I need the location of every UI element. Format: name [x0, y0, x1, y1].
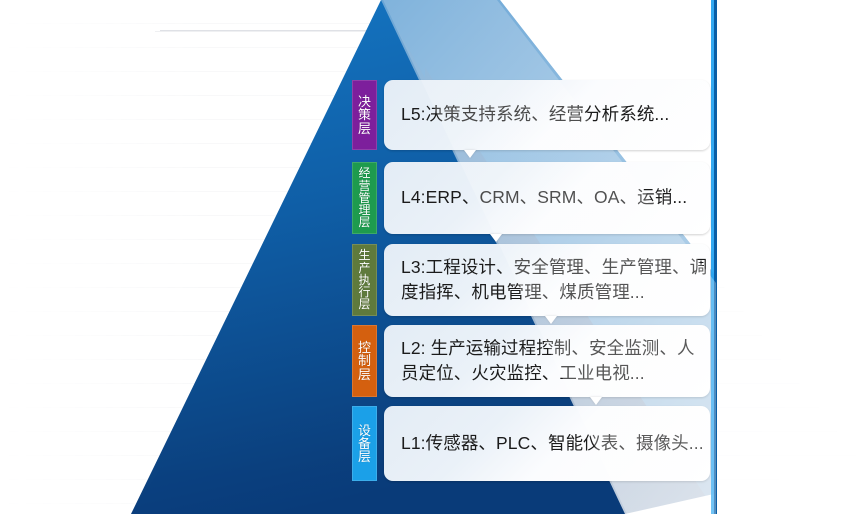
layer-row-L5[interactable]: 决 策 层 L5:决策支持系统、经营分析系统... — [352, 80, 710, 150]
layer-card-L5[interactable]: L5:决策支持系统、经营分析系统... — [384, 80, 710, 150]
layer-text-L4: L4:ERP、CRM、SRM、OA、运销... — [401, 185, 687, 210]
layer-tab-char: 策 — [358, 108, 371, 121]
layer-text-L5: L5:决策支持系统、经营分析系统... — [401, 102, 669, 127]
layer-tab-char: 层 — [358, 216, 370, 228]
layer-rows: 决 策 层 L5:决策支持系统、经营分析系统... 经 营 管 理 层 L4:E… — [0, 0, 856, 514]
layer-tab-char: 层 — [358, 298, 370, 310]
layer-card-L3[interactable]: L3:工程设计、安全管理、生产管理、调度指挥、机电管理、煤质管理... — [384, 244, 710, 316]
layer-tab-L2[interactable]: 控 制 层 — [352, 325, 377, 397]
layer-card-L1[interactable]: L1:传感器、PLC、智能仪表、摄像头... — [384, 406, 710, 481]
layer-connector-arrow — [545, 316, 557, 324]
layer-tab-char: 生 — [358, 249, 370, 261]
layer-tab-char: 设 — [358, 424, 371, 437]
layer-tab-char: 制 — [358, 354, 371, 367]
layer-tab-L5[interactable]: 决 策 层 — [352, 80, 377, 150]
layer-connector-arrow — [464, 150, 476, 158]
pyramid-diagram-canvas: 决 策 层 L5:决策支持系统、经营分析系统... 经 营 管 理 层 L4:E… — [0, 0, 856, 514]
layer-connector-arrow — [490, 234, 502, 242]
layer-text-L1: L1:传感器、PLC、智能仪表、摄像头... — [401, 431, 704, 456]
layer-tab-char: 备 — [358, 437, 371, 450]
layer-connector-arrow — [590, 397, 602, 405]
layer-tab-L1[interactable]: 设 备 层 — [352, 406, 377, 481]
layer-row-L1[interactable]: 设 备 层 L1:传感器、PLC、智能仪表、摄像头... — [352, 406, 710, 481]
layer-tab-char: 经 — [358, 167, 370, 179]
layer-row-L3[interactable]: 生 产 执 行 层 L3:工程设计、安全管理、生产管理、调度指挥、机电管理、煤质… — [352, 244, 710, 316]
layer-text-L3: L3:工程设计、安全管理、生产管理、调度指挥、机电管理、煤质管理... — [401, 255, 710, 306]
layer-tab-L3[interactable]: 生 产 执 行 层 — [352, 244, 377, 316]
layer-card-L2[interactable]: L2: 生产运输过程控制、安全监测、人员定位、火灾监控、工业电视... — [384, 325, 710, 397]
layer-tab-L4[interactable]: 经 营 管 理 层 — [352, 162, 377, 234]
layer-card-L4[interactable]: L4:ERP、CRM、SRM、OA、运销... — [384, 162, 710, 234]
layer-row-L2[interactable]: 控 制 层 L2: 生产运输过程控制、安全监测、人员定位、火灾监控、工业电视..… — [352, 325, 710, 397]
layer-text-L2: L2: 生产运输过程控制、安全监测、人员定位、火灾监控、工业电视... — [401, 336, 710, 387]
layer-tab-char: 层 — [358, 368, 371, 381]
layer-tab-char: 层 — [358, 122, 371, 135]
layer-tab-char: 层 — [358, 450, 371, 463]
layer-row-L4[interactable]: 经 营 管 理 层 L4:ERP、CRM、SRM、OA、运销... — [352, 162, 710, 234]
